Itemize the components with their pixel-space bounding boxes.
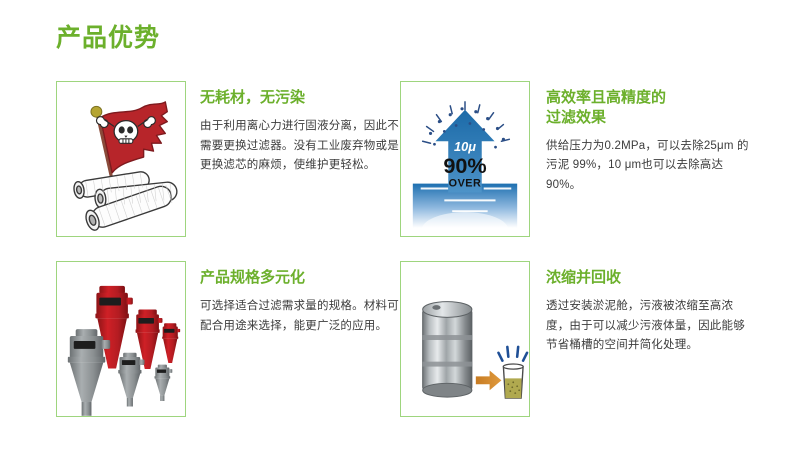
advantage-card-diverse-specs: 产品规格多元化 可选择适合过滤需求量的规格。材料可配合用途来选择，能更广泛的应用… xyxy=(56,261,400,417)
arrow-over-label: OVER xyxy=(449,178,482,190)
advantages-row-1: 无耗材，无污染 由于利用离心力进行固液分离，因此不需要更换过滤器。没有工业废弃物… xyxy=(56,81,756,237)
advantages-row-2: 产品规格多元化 可选择适合过滤需求量的规格。材料可配合用途来选择，能更广泛的应用… xyxy=(56,261,756,417)
advantage-title: 产品规格多元化 xyxy=(200,268,400,288)
arrow-percent-label: 90% xyxy=(443,153,486,178)
advantage-card-no-consumables: 无耗材，无污染 由于利用离心力进行固液分离，因此不需要更换过滤器。没有工业废弃物… xyxy=(56,81,400,237)
advantage-title: 高效率且高精度的 过滤效果 xyxy=(546,88,756,128)
advantage-title: 无耗材，无污染 xyxy=(200,88,400,108)
advantage-body: 无耗材，无污染 由于利用离心力进行固液分离，因此不需要更换过滤器。没有工业废弃物… xyxy=(186,81,400,237)
advantage-text: 由于利用离心力进行固液分离，因此不需要更换过滤器。没有工业废弃物或是更换滤芯的麻… xyxy=(200,117,400,176)
advantage-title: 浓缩并回收 xyxy=(546,268,756,288)
advantage-text: 供给压力为0.2MPa，可以去除25μm 的污泥 99%，10 μm也可以去除高… xyxy=(546,137,756,196)
cyclone-separator-lineup-icon xyxy=(56,261,186,417)
row-spacer xyxy=(56,237,756,261)
advantage-text: 透过安装淤泥舱，污液被浓缩至高浓度，由于可以减少污液体量，因此能够节省桶槽的空间… xyxy=(546,297,756,356)
advantage-body: 高效率且高精度的 过滤效果 供给压力为0.2MPa，可以去除25μm 的污泥 9… xyxy=(530,81,756,237)
steel-drum-to-beaker-icon xyxy=(400,261,530,417)
advantage-body: 浓缩并回收 透过安装淤泥舱，污液被浓缩至高浓度，由于可以减少污液体量，因此能够节… xyxy=(530,261,756,417)
advantage-card-concentrate-recycle: 浓缩并回收 透过安装淤泥舱，污液被浓缩至高浓度，由于可以减少污液体量，因此能够节… xyxy=(400,261,756,417)
advantage-text: 可选择适合过滤需求量的规格。材料可配合用途来选择，能更广泛的应用。 xyxy=(200,297,400,337)
page-title: 产品优势 xyxy=(56,23,160,53)
advantage-card-high-efficiency: 10μ 90% OVER 高效率且高精度的 过滤效果 供给压力为0.2MPa，可… xyxy=(400,81,756,237)
advantages-grid: 无耗材，无污染 由于利用离心力进行固液分离，因此不需要更换过滤器。没有工业废弃物… xyxy=(56,81,756,417)
advantage-body: 产品规格多元化 可选择适合过滤需求量的规格。材料可配合用途来选择，能更广泛的应用… xyxy=(186,261,400,417)
product-advantages-page: 产品优势 xyxy=(0,0,800,459)
blue-upward-arrow-filtration-icon: 10μ 90% OVER xyxy=(400,81,530,237)
pirate-flag-filter-cartridges-icon xyxy=(56,81,186,237)
